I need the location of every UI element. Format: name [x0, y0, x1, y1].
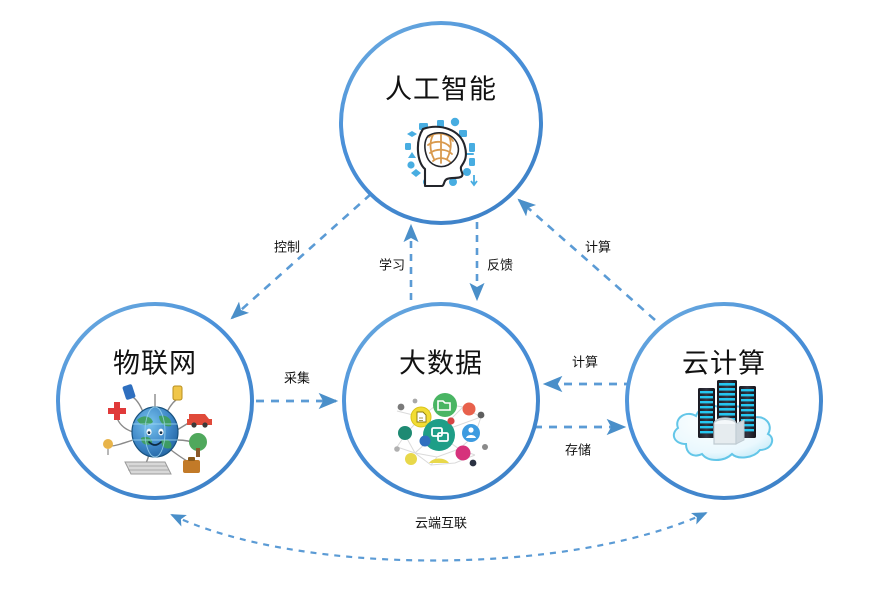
edge-iot-cloud-link: 云端互联: [172, 513, 706, 561]
edge-cloud-to-bigdata: 计算: [545, 356, 632, 385]
edge-iot-to-bigdata: 采集: [256, 371, 336, 402]
edge-label-compute-bd: 计算: [572, 356, 598, 371]
node-cloud-label: 云计算: [682, 349, 766, 380]
edge-ai-to-iot: 控制: [232, 194, 371, 318]
node-cloud[interactable]: 云计算: [627, 304, 821, 498]
edge-bigdata-to-cloud: 存储: [534, 427, 624, 459]
iot-peripheral-keyboard: [125, 462, 171, 474]
edge-label-learning: 学习: [379, 258, 405, 274]
edge-label-cloud-interconnect: 云端互联: [415, 517, 467, 532]
node-ai-label: 人工智能: [385, 75, 497, 106]
relationship-diagram: 控制 学习 反馈 计算 采集: [0, 0, 872, 596]
node-iot[interactable]: 物联网: [58, 304, 252, 498]
diagram-canvas: 控制 学习 反馈 计算 采集: [0, 0, 872, 596]
edge-label-compute-ai: 计算: [585, 241, 611, 256]
edge-label-feedback: 反馈: [487, 259, 513, 274]
edge-bigdata-to-ai: 学习: [379, 226, 411, 300]
node-iot-label: 物联网: [113, 349, 197, 380]
edge-label-collect: 采集: [284, 371, 310, 387]
node-bigdata[interactable]: 大数据: [344, 304, 538, 498]
edge-line-compute-ai: [519, 200, 655, 320]
edge-label-storage: 存储: [565, 444, 591, 459]
edge-ai-to-bigdata: 反馈: [477, 222, 513, 299]
edge-cloud-to-ai: 计算: [519, 200, 655, 320]
node-bigdata-label: 大数据: [399, 349, 483, 380]
node-ai[interactable]: 人工智能: [341, 23, 541, 223]
iot-peripheral-device: [173, 386, 182, 400]
edge-label-control: 控制: [274, 241, 300, 256]
edge-line-control: [232, 194, 371, 318]
